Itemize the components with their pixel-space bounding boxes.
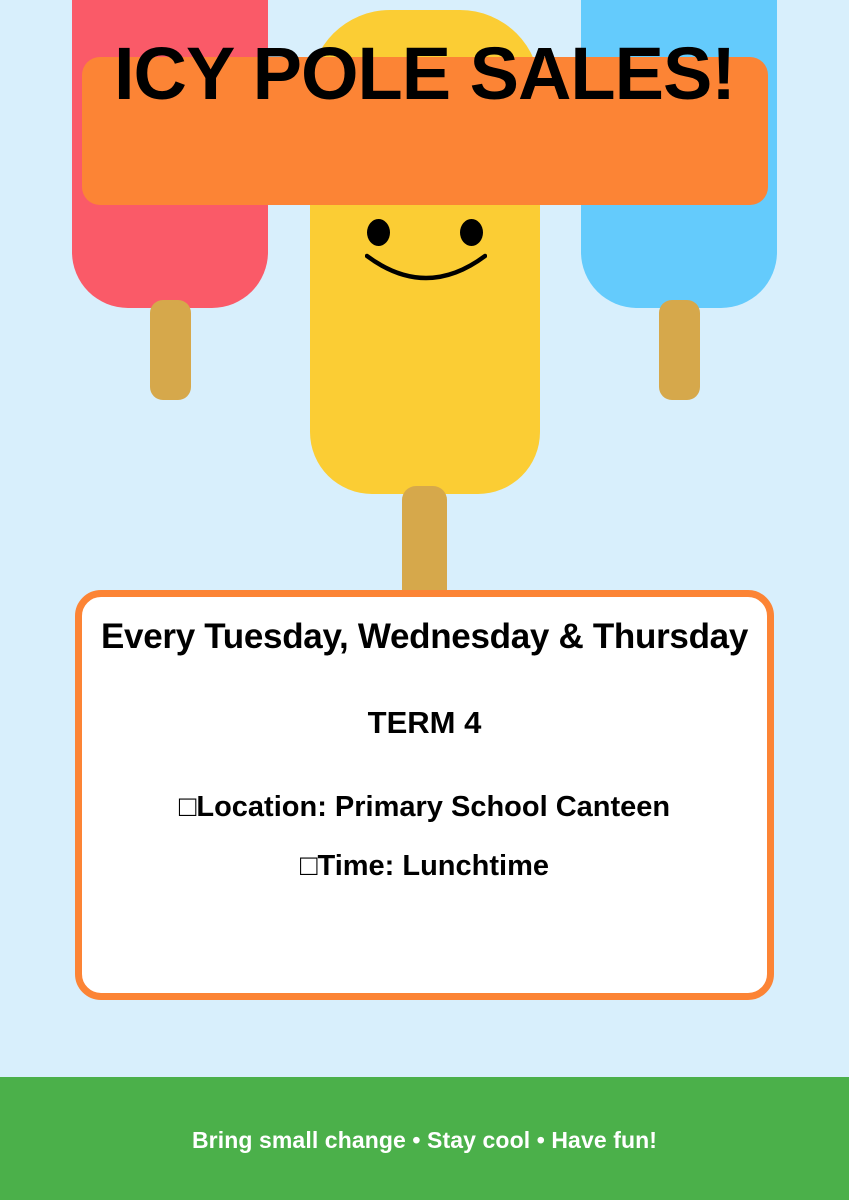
yellow-popsicle-stick [402, 486, 447, 598]
red-popsicle-stick [150, 300, 191, 400]
left-eye-icon [367, 219, 390, 246]
info-card-content: Every Tuesday, Wednesday & Thursday TERM… [0, 590, 849, 883]
schedule-days-line: Every Tuesday, Wednesday & Thursday [0, 618, 849, 657]
time-line: □Time: Lunchtime [0, 851, 849, 883]
icy-pole-sales-poster: ICY POLE SALES! Every Tuesday, Wednesday… [0, 0, 849, 1200]
footer-tagline: Bring small change • Stay cool • Have fu… [0, 1127, 849, 1154]
blue-popsicle-stick [659, 300, 700, 400]
right-eye-icon [460, 219, 483, 246]
smile-mouth-icon [365, 252, 487, 294]
smiley-face-icon [310, 190, 540, 310]
page-title: ICY POLE SALES! [0, 37, 849, 111]
term-line: TERM 4 [0, 706, 849, 740]
location-line: □Location: Primary School Canteen [0, 792, 849, 824]
